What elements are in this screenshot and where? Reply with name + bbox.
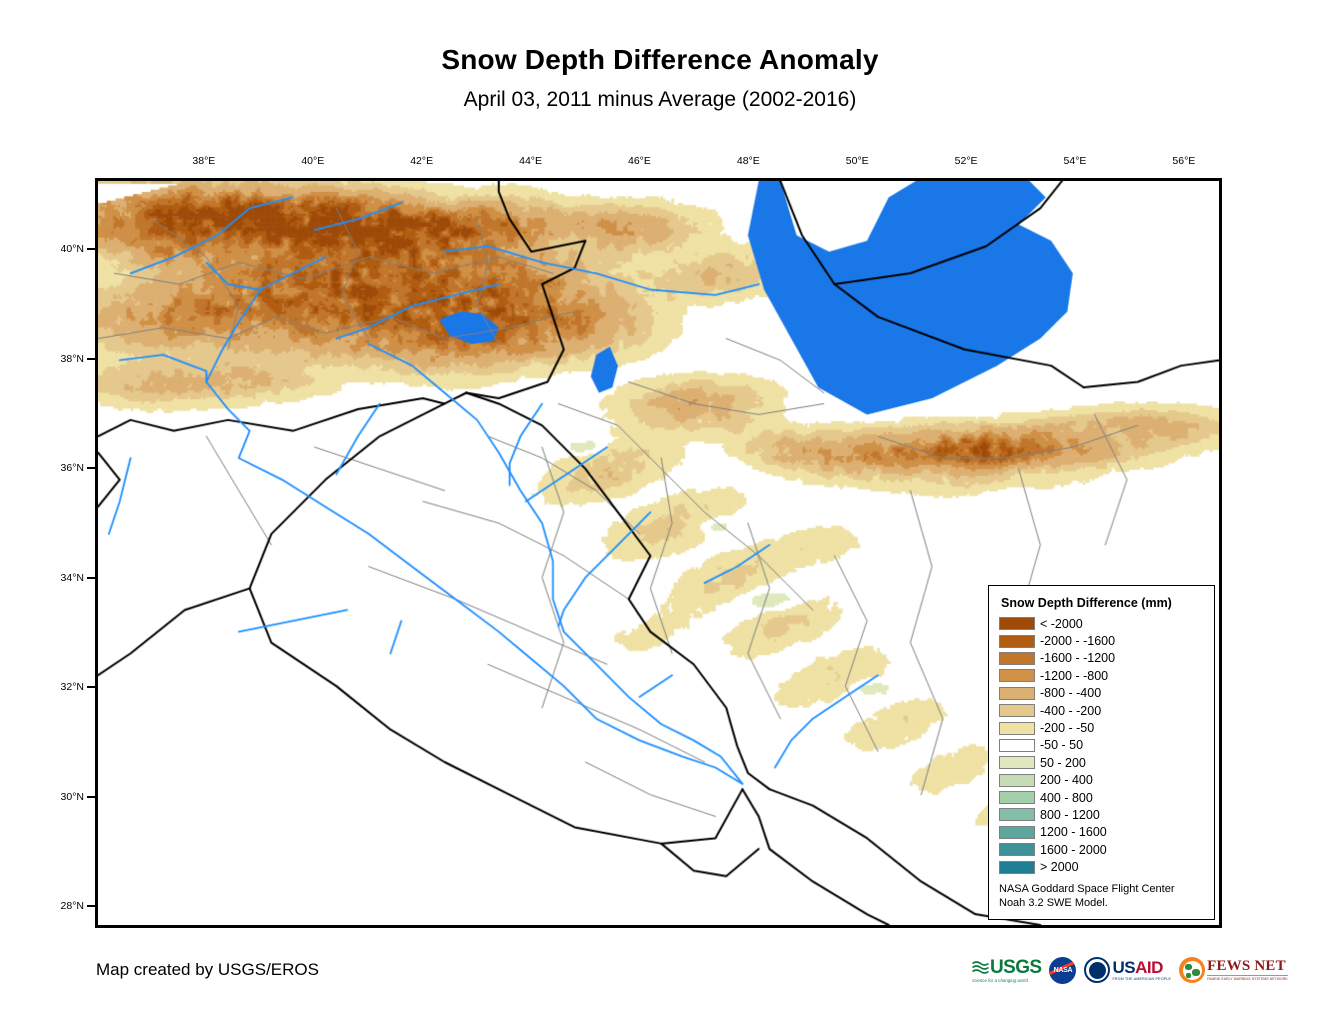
legend-row: 50 - 200 [999,754,1204,771]
nasa-wordmark: NASA [1054,967,1073,974]
legend-swatch [999,826,1035,839]
fews-globe-icon [1179,957,1205,983]
lat-tick [87,905,95,907]
legend-label: -800 - -400 [1040,686,1101,700]
legend-label: 800 - 1200 [1040,808,1100,822]
legend-class-list: < -2000-2000 - -1600-1600 - -1200-1200 -… [999,615,1204,876]
legend-swatch [999,704,1035,717]
map-credit: Map created by USGS/EROS [96,960,319,980]
lon-tick-label: 52°E [955,155,978,167]
legend-swatch [999,652,1035,665]
legend-row: 1600 - 2000 [999,841,1204,858]
lat-tick [87,686,95,688]
legend-note-line-1: NASA Goddard Space Flight Center [999,883,1204,897]
legend-title: Snow Depth Difference (mm) [1001,596,1204,610]
lat-tick [87,358,95,360]
legend-swatch [999,739,1035,752]
legend-row: -1200 - -800 [999,667,1204,684]
legend-panel: Snow Depth Difference (mm) < -2000-2000 … [988,585,1215,920]
legend-label: > 2000 [1040,860,1079,874]
legend-swatch [999,687,1035,700]
legend-swatch [999,774,1035,787]
usgs-tagline: science for a changing world [972,978,1041,983]
legend-label: -1600 - -1200 [1040,651,1115,665]
legend-label: -400 - -200 [1040,704,1101,718]
lon-tick-label: 54°E [1064,155,1087,167]
legend-row: 200 - 400 [999,772,1204,789]
usgs-wordmark: USGS [990,958,1041,977]
legend-row: -800 - -400 [999,685,1204,702]
lat-tick [87,467,95,469]
fews-wordmark: FEWS NET [1207,959,1288,974]
legend-row: < -2000 [999,615,1204,632]
legend-label: -1200 - -800 [1040,669,1108,683]
usaid-wordmark-aid: AID [1135,958,1163,977]
page-title: Snow Depth Difference Anomaly [0,44,1320,76]
legend-label: -50 - 50 [1040,738,1083,752]
usaid-tagline: FROM THE AMERICAN PEOPLE [1112,977,1171,981]
lat-tick-label: 36°N [38,462,84,474]
lat-tick [87,796,95,798]
legend-row: -200 - -50 [999,719,1204,736]
legend-label: 200 - 400 [1040,773,1093,787]
legend-row: 400 - 800 [999,789,1204,806]
fewsnet-logo: FEWS NET FAMINE EARLY WARNING SYSTEMS NE… [1179,955,1288,985]
legend-label: 400 - 800 [1040,791,1093,805]
page-subtitle: April 03, 2011 minus Average (2002-2016) [0,88,1320,112]
legend-label: 50 - 200 [1040,756,1086,770]
usaid-wordmark-us: US [1112,958,1135,977]
legend-label: 1200 - 1600 [1040,825,1107,839]
legend-row: -50 - 50 [999,737,1204,754]
lat-tick-label: 38°N [38,353,84,365]
lon-tick-label: 44°E [519,155,542,167]
lon-tick-label: 50°E [846,155,869,167]
lat-tick-label: 40°N [38,243,84,255]
legend-row: -2000 - -1600 [999,632,1204,649]
lon-tick-label: 46°E [628,155,651,167]
legend-note-line-2: Noah 3.2 SWE Model. [999,897,1204,911]
legend-attribution: NASA Goddard Space Flight Center Noah 3.… [999,883,1204,911]
legend-label: -200 - -50 [1040,721,1094,735]
legend-swatch [999,843,1035,856]
legend-row: 1200 - 1600 [999,824,1204,841]
lat-tick-label: 28°N [38,900,84,912]
legend-row: > 2000 [999,858,1204,875]
legend-swatch [999,722,1035,735]
lat-tick [87,248,95,250]
legend-swatch [999,635,1035,648]
legend-row: -400 - -200 [999,702,1204,719]
lat-tick-label: 32°N [38,681,84,693]
lon-tick-label: 40°E [301,155,324,167]
nasa-meatball-icon: NASA [1049,957,1076,984]
legend-swatch [999,617,1035,630]
usaid-seal-icon [1084,957,1110,983]
legend-label: 1600 - 2000 [1040,843,1107,857]
lon-tick-label: 56°E [1172,155,1195,167]
legend-label: < -2000 [1040,617,1083,631]
legend-row: -1600 - -1200 [999,650,1204,667]
legend-row: 800 - 1200 [999,806,1204,823]
legend-swatch [999,756,1035,769]
lon-tick-label: 38°E [192,155,215,167]
legend-swatch [999,861,1035,874]
lat-tick [87,577,95,579]
fews-tagline: FAMINE EARLY WARNING SYSTEMS NETWORK [1207,977,1288,981]
usaid-logo: USAID FROM THE AMERICAN PEOPLE [1084,955,1171,985]
legend-label: -2000 - -1600 [1040,634,1115,648]
lon-tick-label: 42°E [410,155,433,167]
legend-swatch [999,669,1035,682]
lat-tick-label: 30°N [38,791,84,803]
legend-swatch [999,808,1035,821]
nasa-logo: NASA [1049,955,1076,985]
agency-logo-strip: USGS science for a changing world NASA U… [972,953,1288,987]
lat-tick-label: 34°N [38,572,84,584]
usgs-wave-icon [972,960,989,975]
lon-tick-label: 48°E [737,155,760,167]
usgs-logo: USGS science for a changing world [972,955,1041,985]
legend-swatch [999,791,1035,804]
